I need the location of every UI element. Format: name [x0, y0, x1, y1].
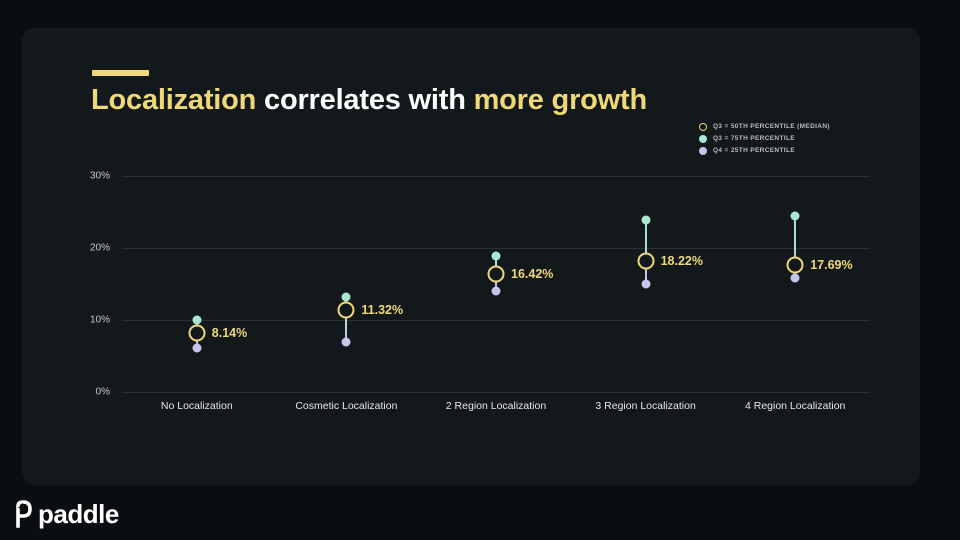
- paddle-logo: paddle: [14, 500, 119, 528]
- legend-label-p25: Q4 = 25TH PERCENTILE: [713, 147, 795, 154]
- legend-item-p75: Q3 = 75TH PERCENTILE: [699, 133, 879, 144]
- title-accent-bar: [92, 70, 149, 76]
- paddle-wordmark: paddle: [38, 501, 119, 527]
- legend-item-p25: Q4 = 25TH PERCENTILE: [699, 145, 879, 156]
- chart-legend: Q3 = 50TH PERCENTILE (MEDIAN) Q3 = 75TH …: [699, 121, 879, 157]
- legend-marker-ring-icon: [699, 123, 707, 131]
- page-title: Localization correlates with more growth: [91, 84, 647, 117]
- legend-marker-dot-p25-icon: [699, 147, 707, 155]
- legend-marker-dot-p75-icon: [699, 135, 707, 143]
- y-axis-title: GROWTH %: [0, 259, 1, 310]
- title-middle: correlates with: [256, 84, 473, 116]
- paddle-mark-icon: [14, 500, 38, 528]
- legend-item-median: Q3 = 50TH PERCENTILE (MEDIAN): [699, 121, 879, 132]
- legend-label-median: Q3 = 50TH PERCENTILE (MEDIAN): [713, 123, 830, 130]
- title-highlight-start: Localization: [91, 84, 256, 116]
- legend-label-p75: Q3 = 75TH PERCENTILE: [713, 135, 795, 142]
- slide-canvas: Localization correlates with more growth…: [0, 0, 960, 540]
- title-highlight-end: more growth: [474, 84, 647, 116]
